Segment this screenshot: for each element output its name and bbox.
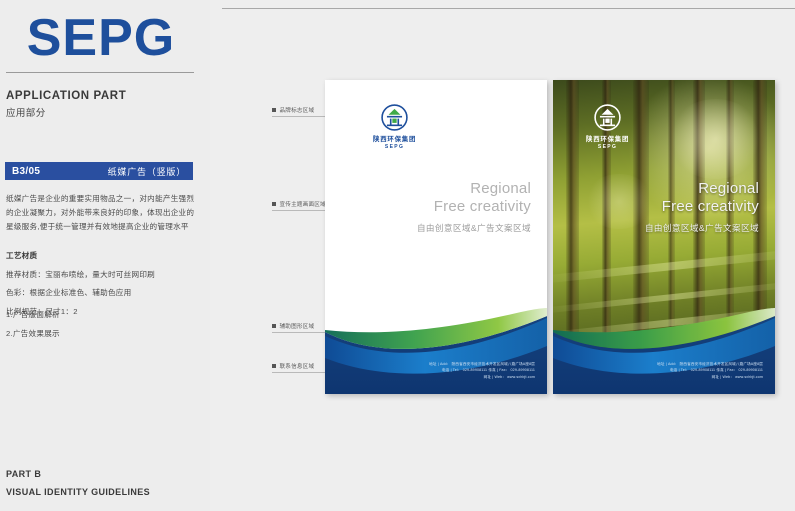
headline-line-2: Free creativity — [417, 198, 531, 216]
poster-contact-info: 地址 | Add： 陕西省西安市经济技术开发区凤城八路广场A座8层 电话 | T… — [429, 361, 535, 380]
poster-logo-cn: 陕西环保集团 — [373, 134, 416, 143]
content-list: 1.广告版面解析 2.广告效果展示 — [6, 311, 196, 348]
spec-code-bar: B3/05 纸媒广告（竖版） — [5, 162, 193, 180]
description-block: 纸媒广告是企业的重要实用物品之一，对内能产生强烈的企业凝聚力，对外能带来良好的印… — [6, 192, 196, 234]
poster-logo-lockup: 陕西环保集团 SEPG — [373, 104, 416, 150]
wordmark-text: SEPG — [27, 12, 176, 64]
bullet-square-icon — [272, 108, 276, 112]
logo-divider — [6, 72, 194, 73]
poster-mockup-photo[interactable]: 陕西环保集团 SEPG Regional Free creativity 自由创… — [553, 80, 775, 394]
poster-logo-lockup: 陕西环保集团 SEPG — [586, 104, 629, 150]
list-item: 1.广告版面解析 — [6, 311, 196, 319]
bullet-square-icon — [272, 324, 276, 328]
headline-subtitle: 自由创意区域&广告文案区域 — [417, 222, 531, 234]
footer-guideline-title: VISUAL IDENTITY GUIDELINES — [6, 487, 196, 497]
poster-headline: Regional Free creativity 自由创意区域&广告文案区域 — [645, 180, 759, 234]
annotation-label: 联系信息区域 — [280, 362, 315, 370]
poster-logo-cn: 陕西环保集团 — [586, 134, 629, 143]
bullet-square-icon — [272, 364, 276, 368]
spec-row: 工艺材质 — [6, 252, 196, 260]
sepg-wordmark-logo: SEPG — [8, 8, 194, 68]
poster-logo-en: SEPG — [598, 144, 618, 150]
spec-code-title: 纸媒广告（竖版） — [108, 165, 186, 178]
page-footer: PART B VISUAL IDENTITY GUIDELINES — [6, 469, 196, 497]
list-item: 2.广告效果展示 — [6, 330, 196, 338]
spec-row: 推荐材质：宝丽布喷绘，量大时可丝网印刷 — [6, 271, 196, 279]
headline-line-1: Regional — [645, 180, 759, 198]
top-divider — [222, 8, 795, 9]
bullet-square-icon — [272, 202, 276, 206]
contact-line: 电话 | Tel： 029-89908111 传真 | Fax： 029-899… — [657, 367, 763, 373]
spec-panel: SEPG APPLICATION PART 应用部分 B3/05 纸媒广告（竖版… — [0, 0, 210, 511]
spec-row: 色彩：根据企业标准色、辅助色应用 — [6, 289, 196, 297]
annotation-label: 品牌标志区域 — [280, 106, 315, 114]
contact-line: 电话 | Tel： 029-89908111 传真 | Fax： 029-899… — [429, 367, 535, 373]
annotation-label: 辅助图形区域 — [280, 322, 315, 330]
poster-headline: Regional Free creativity 自由创意区域&广告文案区域 — [417, 180, 531, 234]
sepg-emblem-icon — [381, 104, 408, 131]
annotation-label: 宣传主题画面区域 — [280, 200, 326, 208]
headline-line-1: Regional — [417, 180, 531, 198]
description-text: 纸媒广告是企业的重要实用物品之一，对内能产生强烈的企业凝聚力，对外能带来良好的印… — [6, 192, 196, 234]
footer-part-label: PART B — [6, 469, 196, 479]
poster-mockup-layout[interactable]: 陕西环保集团 SEPG Regional Free creativity 自由创… — [325, 80, 547, 394]
section-title-cn: 应用部分 — [6, 105, 204, 119]
sepg-emblem-icon — [594, 104, 621, 131]
headline-subtitle: 自由创意区域&广告文案区域 — [645, 222, 759, 234]
artboard-canvas: 品牌标志区域 宣传主题画面区域 辅助图形区域 联系信息区域 — [210, 0, 795, 511]
auxiliary-wave-graphic — [553, 306, 775, 394]
spec-code: B3/05 — [12, 166, 40, 177]
section-heading: APPLICATION PART 应用部分 — [6, 90, 204, 119]
section-title-en: APPLICATION PART — [6, 90, 204, 102]
headline-line-2: Free creativity — [645, 198, 759, 216]
contact-line: 网址 | Web： www.sxhbjt.com — [657, 374, 763, 380]
poster-logo-en: SEPG — [385, 144, 405, 150]
auxiliary-wave-graphic — [325, 306, 547, 394]
contact-line: 网址 | Web： www.sxhbjt.com — [429, 374, 535, 380]
poster-contact-info: 地址 | Add： 陕西省西安市经济技术开发区凤城八路广场A座8层 电话 | T… — [657, 361, 763, 380]
